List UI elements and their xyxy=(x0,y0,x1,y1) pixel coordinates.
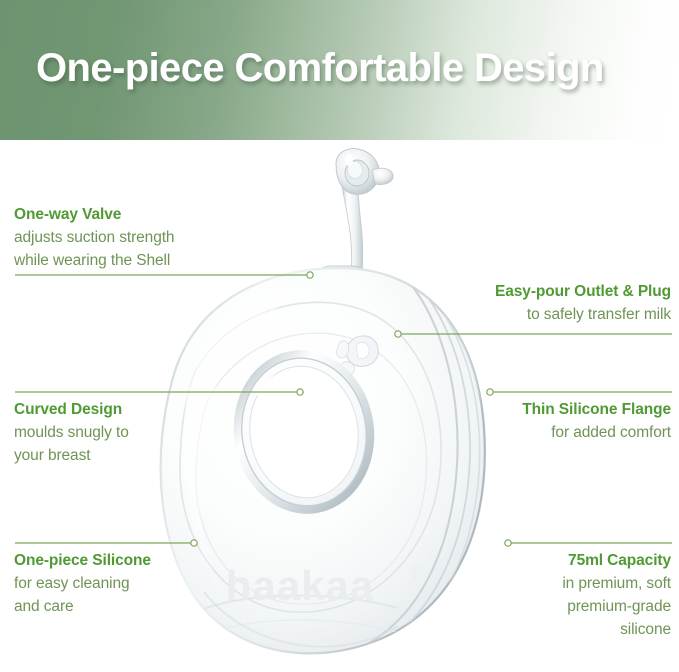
callout-75ml-capacity-title: 75ml Capacity xyxy=(371,549,671,572)
header-banner: One-piece Comfortable Design xyxy=(0,0,679,140)
callout-curved-design-title: Curved Design xyxy=(14,398,314,421)
callout-easy-pour-outlet: Easy-pour Outlet & Plug to safely transf… xyxy=(371,280,671,326)
callout-one-piece-silicone-title: One-piece Silicone xyxy=(14,549,314,572)
page-title: One-piece Comfortable Design xyxy=(36,44,676,92)
callout-curved-design: Curved Design moulds snugly to your brea… xyxy=(14,398,314,467)
callout-75ml-capacity-body: in premium, soft premium-grade silicone xyxy=(371,572,671,641)
callout-one-piece-silicone: One-piece Silicone for easy cleaning and… xyxy=(14,549,314,618)
callout-75ml-capacity: 75ml Capacity in premium, soft premium-g… xyxy=(371,549,671,641)
callout-curved-design-body: moulds snugly to your breast xyxy=(14,421,314,467)
product-feature-infographic: One-piece Comfortable Design xyxy=(0,0,679,672)
plug-and-strap xyxy=(336,149,393,276)
callout-easy-pour-outlet-title: Easy-pour Outlet & Plug xyxy=(371,280,671,303)
callout-one-way-valve: One-way Valve adjusts suction strength w… xyxy=(14,203,314,272)
callout-thin-silicone-flange-title: Thin Silicone Flange xyxy=(371,398,671,421)
callout-thin-silicone-flange: Thin Silicone Flange for added comfort xyxy=(371,398,671,444)
callout-thin-silicone-flange-body: for added comfort xyxy=(371,421,671,444)
callout-one-way-valve-body: adjusts suction strength while wearing t… xyxy=(14,226,314,272)
callout-easy-pour-outlet-body: to safely transfer milk xyxy=(371,303,671,326)
callout-one-way-valve-title: One-way Valve xyxy=(14,203,314,226)
callout-one-piece-silicone-body: for easy cleaning and care xyxy=(14,572,314,618)
